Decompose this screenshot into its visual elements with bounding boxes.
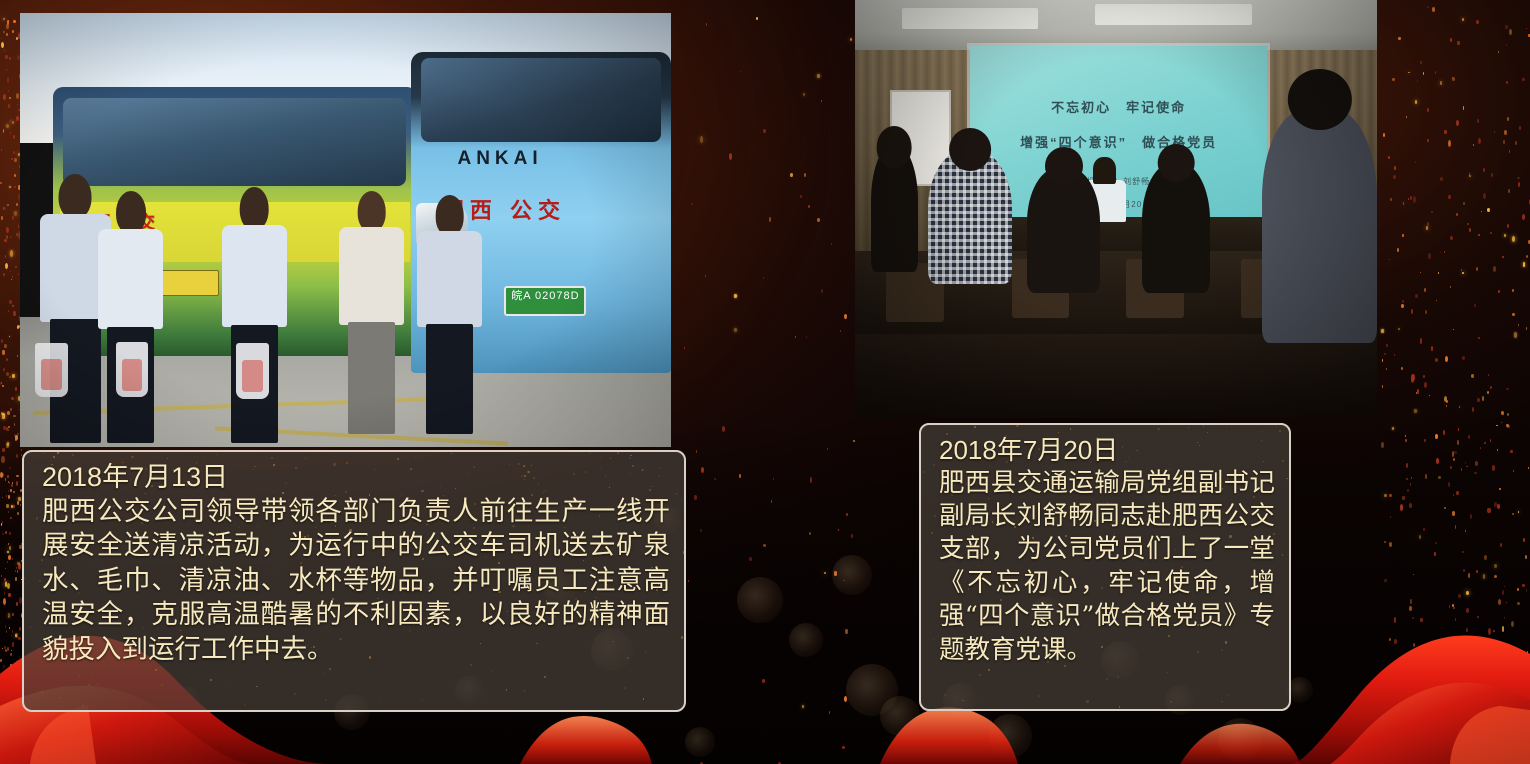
photo-vignette	[20, 13, 671, 447]
bus-depot-photo: 肥西 公交 ANKAI 肥西 公交 皖A 02078D	[20, 13, 671, 447]
left-caption-body: 肥西公交公司领导带领各部门负责人前往生产一线开展安全送清凉活动，为运行中的公交车…	[42, 495, 670, 667]
party-lecture-photo: 不忘初心 牢记使命 增强“四个意识” 做合格党员 授课人：刘舒畅 2018年7月…	[855, 0, 1377, 418]
photo-vignette	[855, 0, 1377, 418]
presentation-slide: 肥西 公交 ANKAI 肥西 公交 皖A 02078D	[0, 0, 1530, 764]
right-caption-date: 2018年7月20日	[939, 435, 1275, 466]
left-caption-date: 2018年7月13日	[42, 462, 670, 494]
left-caption-box: 2018年7月13日 肥西公交公司领导带领各部门负责人前往生产一线开展安全送清凉…	[22, 450, 686, 712]
right-caption-body: 肥西县交通运输局党组副书记副局长刘舒畅同志赴肥西公交支部，为公司党员们上了一堂《…	[939, 467, 1275, 667]
right-caption-box: 2018年7月20日 肥西县交通运输局党组副书记副局长刘舒畅同志赴肥西公交支部，…	[919, 423, 1291, 711]
